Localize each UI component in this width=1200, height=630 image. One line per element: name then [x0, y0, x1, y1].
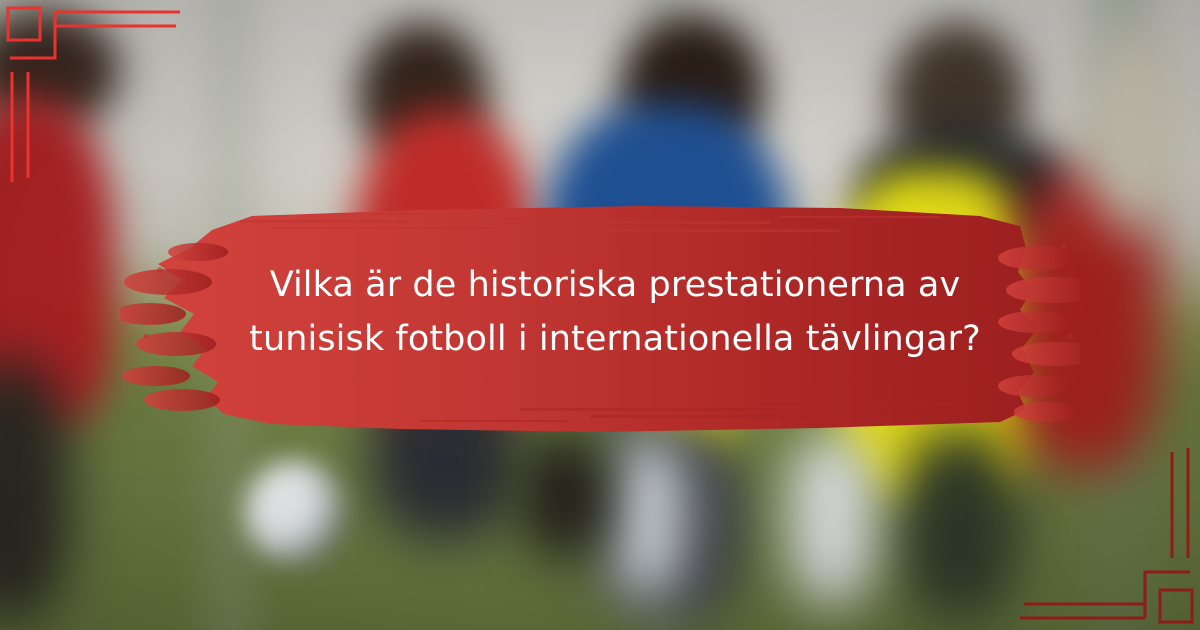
corner-ornament-top-left: [0, 0, 200, 200]
corner-square-tl: [8, 8, 40, 40]
headline-line-1: Vilka är de historiska prestationerna av: [225, 258, 1005, 312]
headline-line-2: tunisisk fotboll i internationella tävli…: [225, 312, 1005, 366]
corner-elbow: [10, 12, 55, 58]
headline-banner: Vilka är de historiska prestationerna av…: [120, 186, 1080, 448]
corner-square-br: [1160, 590, 1192, 622]
corner-ornament-bottom-right: [1000, 430, 1200, 630]
headline-text: Vilka är de historiska prestationerna av…: [225, 258, 1005, 366]
